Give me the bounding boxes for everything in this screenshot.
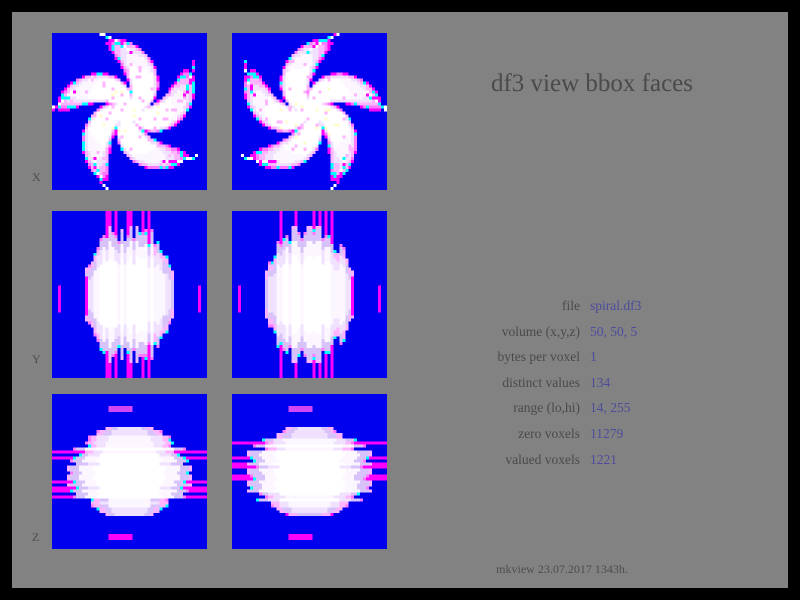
info-key-zero-voxels: zero voxels xyxy=(452,426,580,442)
info-value-volume: 50, 50, 5 xyxy=(580,324,637,340)
voxel-face-image xyxy=(232,394,387,549)
footer-timestamp: mkview 23.07.2017 1343h. xyxy=(412,562,712,577)
info-value-range: 14, 255 xyxy=(580,400,631,416)
voxel-face-image xyxy=(52,211,207,378)
info-key-range: range (lo,hi) xyxy=(452,400,580,416)
voxel-face-image xyxy=(232,211,387,378)
info-key-volume: volume (x,y,z) xyxy=(452,324,580,340)
axis-label-z: Z xyxy=(32,530,40,545)
info-key-file: file xyxy=(452,298,580,314)
table-row: file spiral.df3 xyxy=(452,298,712,324)
table-row: bytes per voxel 1 xyxy=(452,349,712,375)
view-panel-z-face-lo[interactable] xyxy=(52,394,207,549)
info-table: file spiral.df3 volume (x,y,z) 50, 50, 5… xyxy=(452,298,712,477)
view-panel-x-face-hi[interactable] xyxy=(232,33,387,190)
view-panel-z-face-hi[interactable] xyxy=(232,394,387,549)
info-value-file: spiral.df3 xyxy=(580,298,641,314)
view-panel-y-face-hi[interactable] xyxy=(232,211,387,378)
page-title: df3 view bbox faces xyxy=(442,70,742,98)
info-key-distinct-values: distinct values xyxy=(452,375,580,391)
info-value-bytes-per-voxel: 1 xyxy=(580,349,597,365)
voxel-face-image xyxy=(52,394,207,549)
table-row: range (lo,hi) 14, 255 xyxy=(452,400,712,426)
view-panel-y-face-lo[interactable] xyxy=(52,211,207,378)
axis-label-y: Y xyxy=(32,352,41,367)
app-window: X Y Z df3 view bbox faces file xyxy=(0,0,800,600)
voxel-face-image xyxy=(232,33,387,190)
axis-label-x: X xyxy=(32,170,41,185)
info-key-bytes-per-voxel: bytes per voxel xyxy=(452,349,580,365)
info-value-distinct-values: 134 xyxy=(580,375,610,391)
view-panel-x-face-lo[interactable] xyxy=(52,33,207,190)
render-canvas: X Y Z df3 view bbox faces file xyxy=(12,12,788,588)
table-row: volume (x,y,z) 50, 50, 5 xyxy=(452,324,712,350)
table-row: zero voxels 11279 xyxy=(452,426,712,452)
table-row: valued voxels 1221 xyxy=(452,452,712,478)
table-row: distinct values 134 xyxy=(452,375,712,401)
info-value-valued-voxels: 1221 xyxy=(580,452,617,468)
info-value-zero-voxels: 11279 xyxy=(580,426,623,442)
voxel-face-image xyxy=(52,33,207,190)
info-key-valued-voxels: valued voxels xyxy=(452,452,580,468)
